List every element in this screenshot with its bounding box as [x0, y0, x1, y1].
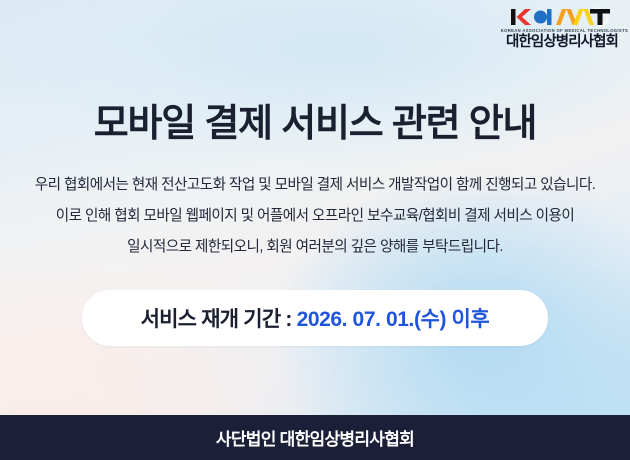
kamt-logo-icon	[510, 6, 614, 28]
service-resume-label: 서비스 재개 기간 :	[141, 303, 292, 333]
service-resume-date: 2026. 07. 01.(수) 이후	[297, 303, 490, 333]
footer-bar: 사단법인 대한임상병리사협회	[0, 415, 630, 460]
association-logo: KOREAN ASSOCIATION OF MEDICAL TECHNOLOGI…	[502, 6, 622, 50]
service-resume-callout: 서비스 재개 기간 : 2026. 07. 01.(수) 이후	[82, 290, 548, 346]
body-line: 일시적으로 제한되오니, 회원 여러분의 깊은 양해를 부탁드립니다.	[0, 232, 630, 263]
body-paragraph: 우리 협회에서는 현재 전산고도화 작업 및 모바일 결제 서비스 개발작업이 …	[0, 170, 630, 263]
logo-english-name: KOREAN ASSOCIATION OF MEDICAL TECHNOLOGI…	[501, 29, 623, 33]
page-title: 모바일 결제 서비스 관련 안내	[0, 92, 630, 147]
body-line: 우리 협회에서는 현재 전산고도화 작업 및 모바일 결제 서비스 개발작업이 …	[0, 170, 630, 201]
logo-korean-name: 대한임상병리사협회	[502, 35, 622, 50]
footer-organization-name: 사단법인 대한임상병리사협회	[216, 425, 414, 450]
announcement-banner: KOREAN ASSOCIATION OF MEDICAL TECHNOLOGI…	[0, 0, 630, 460]
body-line: 이로 인해 협회 모바일 웹페이지 및 어플에서 오프라인 보수교육/협회비 결…	[0, 201, 630, 232]
